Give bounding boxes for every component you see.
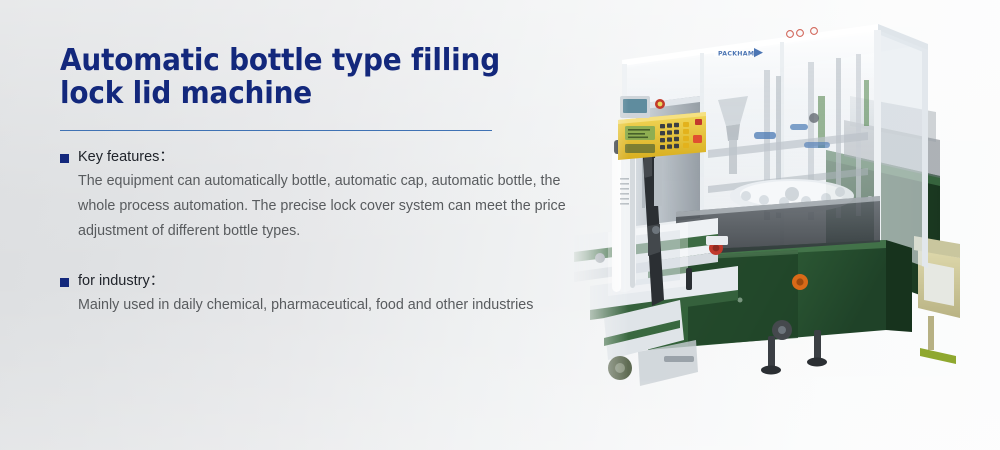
feature-body-key-features: The equipment can automatically bottle, …	[78, 169, 583, 244]
feature-heading: Key features：	[60, 148, 605, 166]
feature-body-for-industry: Mainly used in daily chemical, pharmaceu…	[78, 293, 583, 318]
square-bullet-icon	[60, 154, 69, 163]
page-title: Automatic bottle type filling lock lid m…	[60, 44, 567, 110]
machine-photo: PACKHAM	[568, 0, 1000, 450]
product-banner: PACKHAM	[0, 0, 1000, 450]
svg-text:PACKHAM: PACKHAM	[718, 51, 754, 58]
square-bullet-icon	[60, 278, 69, 287]
feature-block-key-features: Key features： The equipment can automati…	[60, 148, 605, 244]
text-column: Automatic bottle type filling lock lid m…	[60, 44, 605, 318]
feature-label-key-features: Key features：	[78, 148, 174, 166]
feature-heading: for industry：	[60, 272, 605, 290]
brand-mark-icon: PACKHAM	[714, 48, 763, 58]
feature-label-for-industry: for industry：	[78, 272, 164, 290]
feature-block-for-industry: for industry： Mainly used in daily chemi…	[60, 272, 605, 318]
title-divider	[60, 130, 492, 131]
